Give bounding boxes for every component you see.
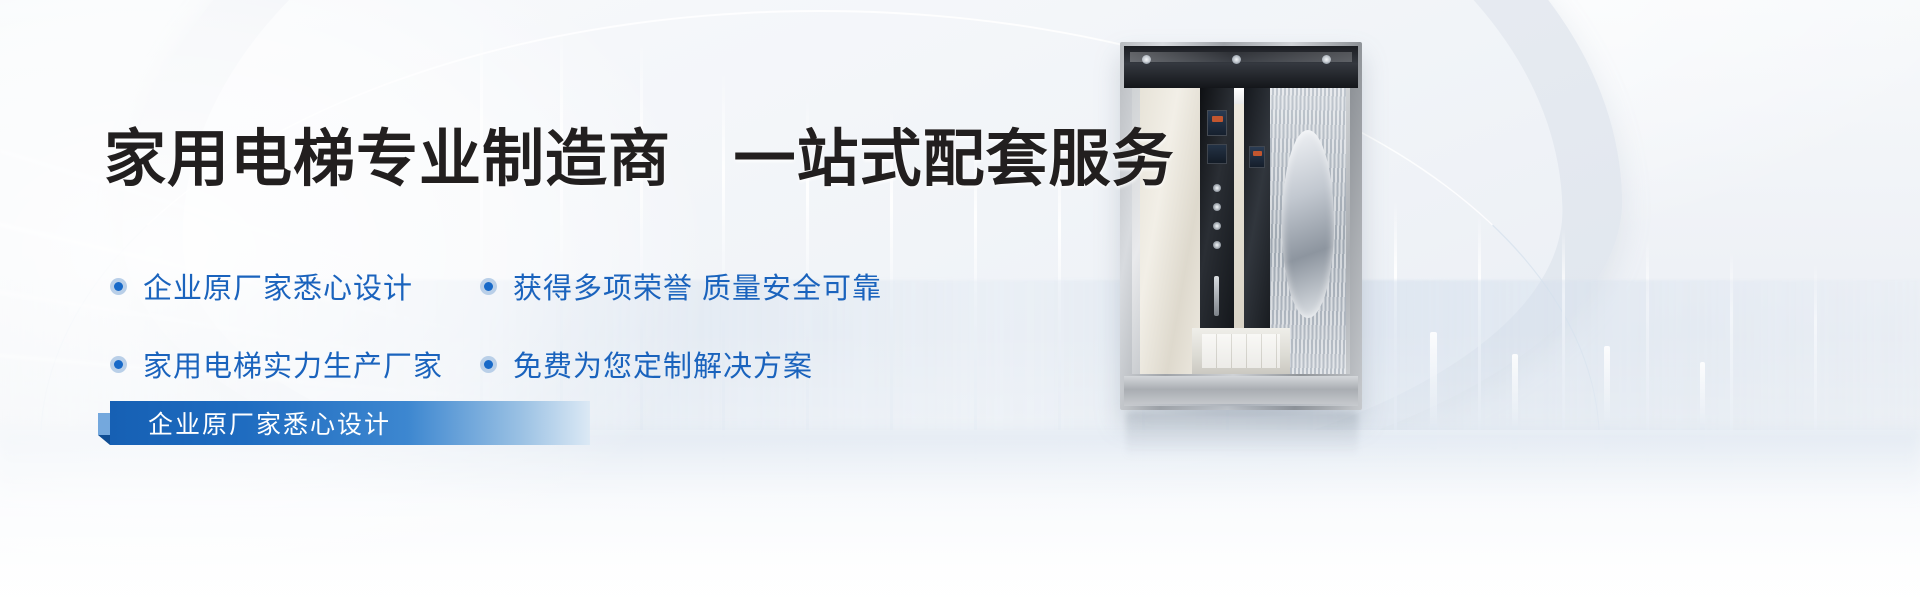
headline-part-1: 家用电梯专业制造商 — [104, 125, 671, 194]
feature-label: 免费为您定制解决方案 — [513, 343, 813, 385]
banner-content: 家用电梯专业制造商 一站式配套服务 企业原厂家悉心设计 获得多项荣誉 质量安全可… — [100, 0, 1100, 600]
home-elevator-product-image — [1120, 42, 1362, 410]
floor-indicator-display — [1207, 110, 1227, 136]
bullet-dot-icon — [480, 356, 497, 373]
cab-floor-tile — [1192, 328, 1290, 374]
elevator-base-plinth — [1124, 376, 1358, 406]
hero-banner: 家用电梯专业制造商 一站式配套服务 企业原厂家悉心设计 获得多项荣誉 质量安全可… — [0, 0, 1920, 600]
feature-item-1: 企业原厂家悉心设计 — [110, 265, 480, 307]
page-title: 家用电梯专业制造商 一站式配套服务 — [104, 108, 1175, 198]
bullet-dot-icon — [480, 278, 497, 295]
call-button-icon — [1213, 241, 1221, 249]
feature-row: 家用电梯实力生产厂家 免费为您定制解决方案 — [110, 336, 970, 392]
handrail-strip — [1214, 276, 1219, 316]
ribbon-fold-icon — [98, 435, 110, 445]
canopy-light-icon — [1142, 55, 1151, 64]
call-button-icon — [1213, 222, 1221, 230]
feature-item-2: 获得多项荣誉 质量安全可靠 — [480, 265, 910, 307]
bullet-dot-icon — [110, 278, 127, 295]
call-button-icon — [1213, 184, 1221, 192]
feature-label: 获得多项荣誉 质量安全可靠 — [513, 265, 882, 307]
elevator-canopy — [1124, 46, 1358, 88]
canopy-light-icon — [1232, 55, 1241, 64]
feature-label: 企业原厂家悉心设计 — [143, 265, 413, 307]
oval-mirror — [1282, 130, 1334, 318]
feature-item-4: 免费为您定制解决方案 — [480, 343, 910, 385]
secondary-floor-display — [1249, 146, 1265, 168]
cab-ceiling-light — [1234, 88, 1244, 104]
ribbon-bar[interactable]: 企业原厂家悉心设计 — [110, 401, 590, 445]
highlight-ribbon[interactable]: 企业原厂家悉心设计 — [110, 401, 590, 445]
control-button-group — [1213, 184, 1221, 260]
feature-label: 家用电梯实力生产厂家 — [143, 343, 443, 385]
feature-list: 企业原厂家悉心设计 获得多项荣誉 质量安全可靠 家用电梯实力生产厂家 免费为您定… — [110, 258, 970, 392]
elevator-reflection — [1126, 412, 1358, 458]
canopy-light-icon — [1322, 55, 1331, 64]
feature-item-3: 家用电梯实力生产厂家 — [110, 343, 480, 385]
headline-part-2: 一站式配套服务 — [733, 125, 1174, 194]
feature-row: 企业原厂家悉心设计 获得多项荣誉 质量安全可靠 — [110, 258, 970, 314]
bullet-dot-icon — [110, 356, 127, 373]
call-button-icon — [1213, 203, 1221, 211]
ribbon-label: 企业原厂家悉心设计 — [148, 405, 391, 441]
secondary-display — [1207, 144, 1227, 164]
